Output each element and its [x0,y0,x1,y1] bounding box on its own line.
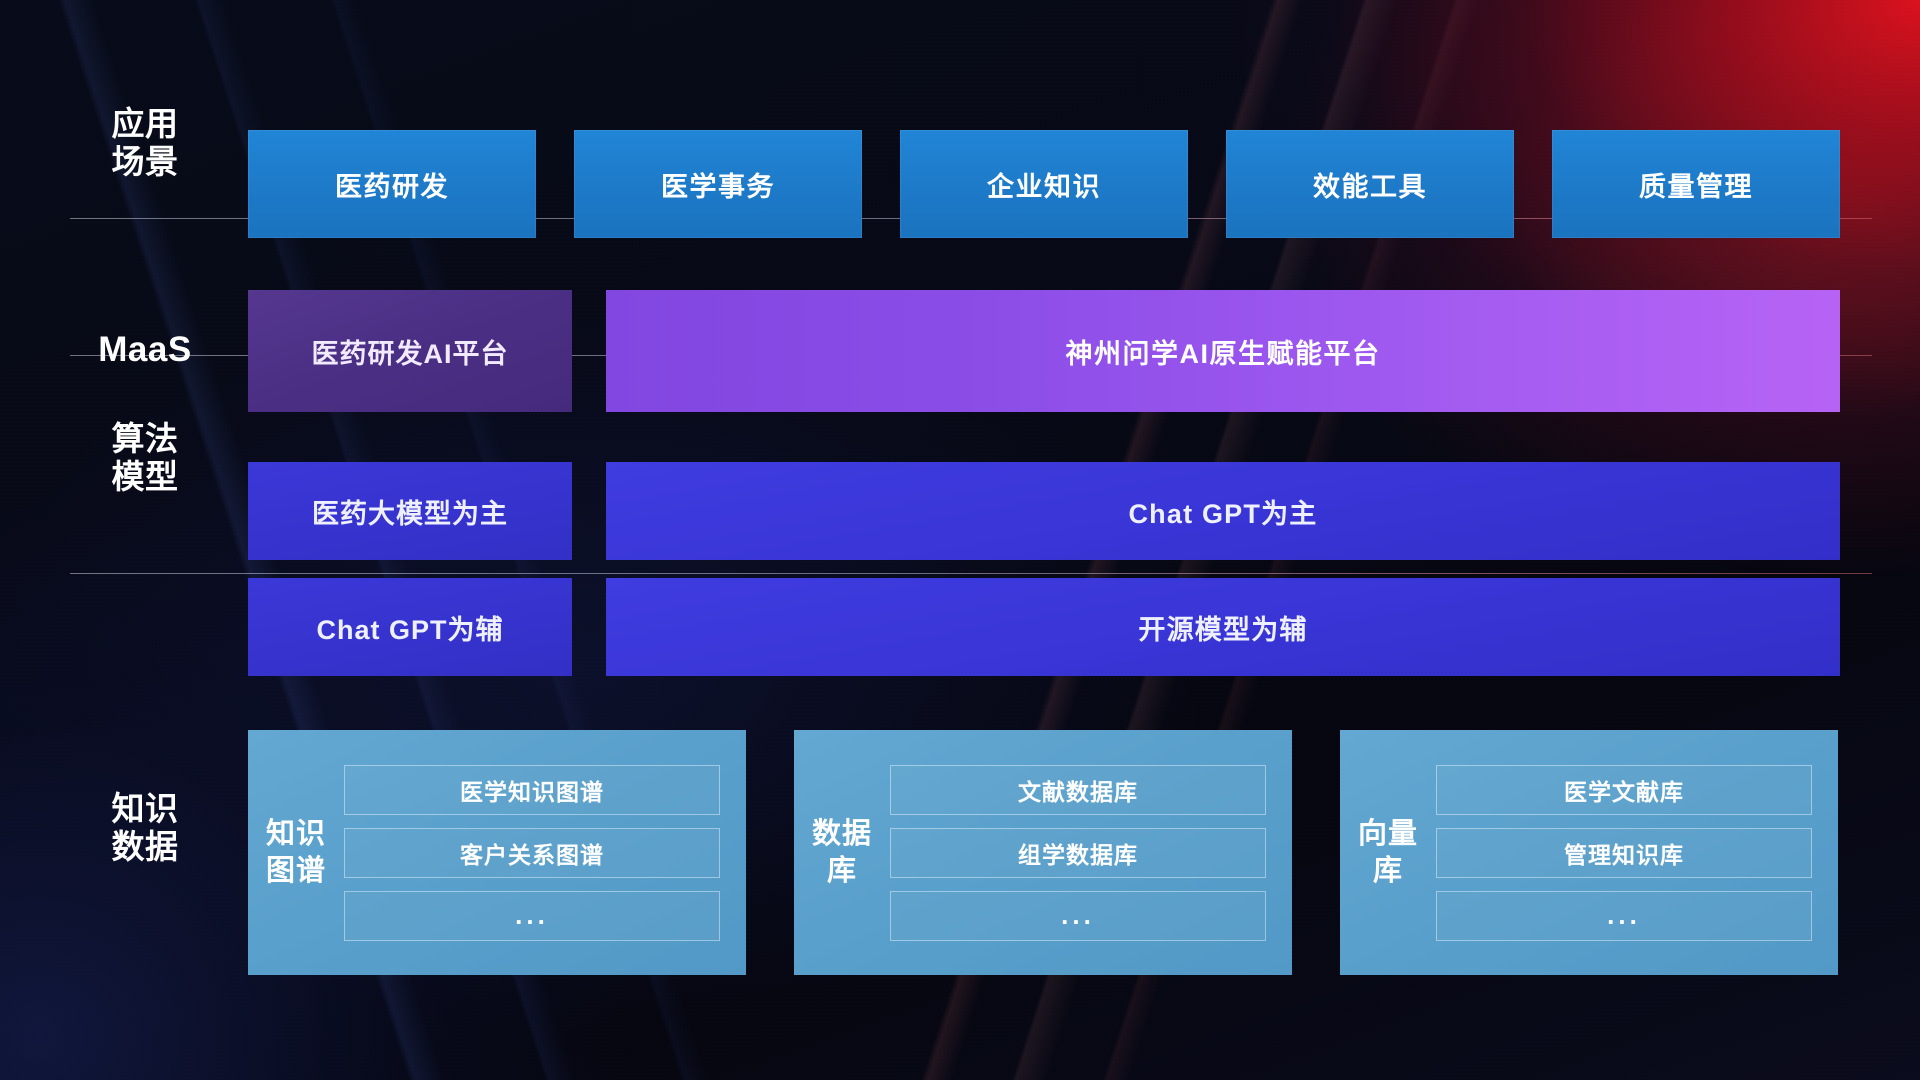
row-label-line: 应用 [70,105,220,143]
algorithm-card-primary-right[interactable]: Chat GPT为主 [606,462,1840,560]
algorithm-model-row: 医药大模型为主 Chat GPT为主 [248,462,1840,560]
maas-platform-card-right[interactable]: 神州问学AI原生赋能平台 [606,290,1840,412]
row-label-line: 模型 [70,458,220,496]
algorithm-card-primary-left[interactable]: 医药大模型为主 [248,462,572,560]
row-label-maas: MaaS [70,330,220,371]
knowledge-item[interactable]: 文献数据库 [890,765,1266,815]
knowledge-item[interactable]: 管理知识库 [1436,828,1812,878]
row-label-line: 场景 [70,143,220,181]
scenario-card[interactable]: 质量管理 [1552,130,1840,238]
row-label-application-scenarios: 应用 场景 [70,105,220,182]
scenario-card[interactable]: 医药研发 [248,130,536,238]
row-label-knowledge-data: 知识 数据 [70,790,220,867]
row-label-line: MaaS [70,330,220,371]
knowledge-item-list: 医学知识图谱 客户关系图谱 ... [344,765,732,941]
row-label-line: 数据 [70,828,220,866]
algorithm-model-layer: 医药大模型为主 Chat GPT为主 Chat GPT为辅 开源模型为辅 [248,462,1840,676]
application-scenario-list: 医药研发 医学事务 企业知识 效能工具 质量管理 [248,130,1840,238]
scenario-card[interactable]: 效能工具 [1226,130,1514,238]
knowledge-item[interactable]: 医学文献库 [1436,765,1812,815]
knowledge-panel-label: 数据库 [794,816,890,889]
knowledge-panel-vector-store[interactable]: 向量库 医学文献库 管理知识库 ... [1340,730,1838,975]
knowledge-data-layer: 知识图谱 医学知识图谱 客户关系图谱 ... 数据库 文献数据库 组学数据库 .… [248,730,1838,975]
knowledge-item-more[interactable]: ... [344,891,720,941]
knowledge-item[interactable]: 客户关系图谱 [344,828,720,878]
architecture-diagram-canvas: 应用 场景 医药研发 医学事务 企业知识 效能工具 质量管理 MaaS 医药研发… [0,0,1920,1080]
algorithm-card-secondary-left[interactable]: Chat GPT为辅 [248,578,572,676]
row-label-line: 算法 [70,420,220,458]
algorithm-card-secondary-right[interactable]: 开源模型为辅 [606,578,1840,676]
knowledge-item-list: 文献数据库 组学数据库 ... [890,765,1278,941]
maas-platform-card-left[interactable]: 医药研发AI平台 [248,290,572,412]
knowledge-panel-label: 知识图谱 [248,816,344,889]
knowledge-item-list: 医学文献库 管理知识库 ... [1436,765,1824,941]
knowledge-panel-database[interactable]: 数据库 文献数据库 组学数据库 ... [794,730,1292,975]
maas-layer: 医药研发AI平台 神州问学AI原生赋能平台 [248,290,1840,412]
algorithm-model-row: Chat GPT为辅 开源模型为辅 [248,578,1840,676]
scenario-card[interactable]: 企业知识 [900,130,1188,238]
scenario-card[interactable]: 医学事务 [574,130,862,238]
row-label-line: 知识 [70,790,220,828]
row-label-algorithm-model: 算法 模型 [70,420,220,497]
knowledge-panel-knowledge-graph[interactable]: 知识图谱 医学知识图谱 客户关系图谱 ... [248,730,746,975]
knowledge-panel-label: 向量库 [1340,816,1436,889]
knowledge-item-more[interactable]: ... [1436,891,1812,941]
knowledge-item[interactable]: 医学知识图谱 [344,765,720,815]
knowledge-item-more[interactable]: ... [890,891,1266,941]
knowledge-item[interactable]: 组学数据库 [890,828,1266,878]
